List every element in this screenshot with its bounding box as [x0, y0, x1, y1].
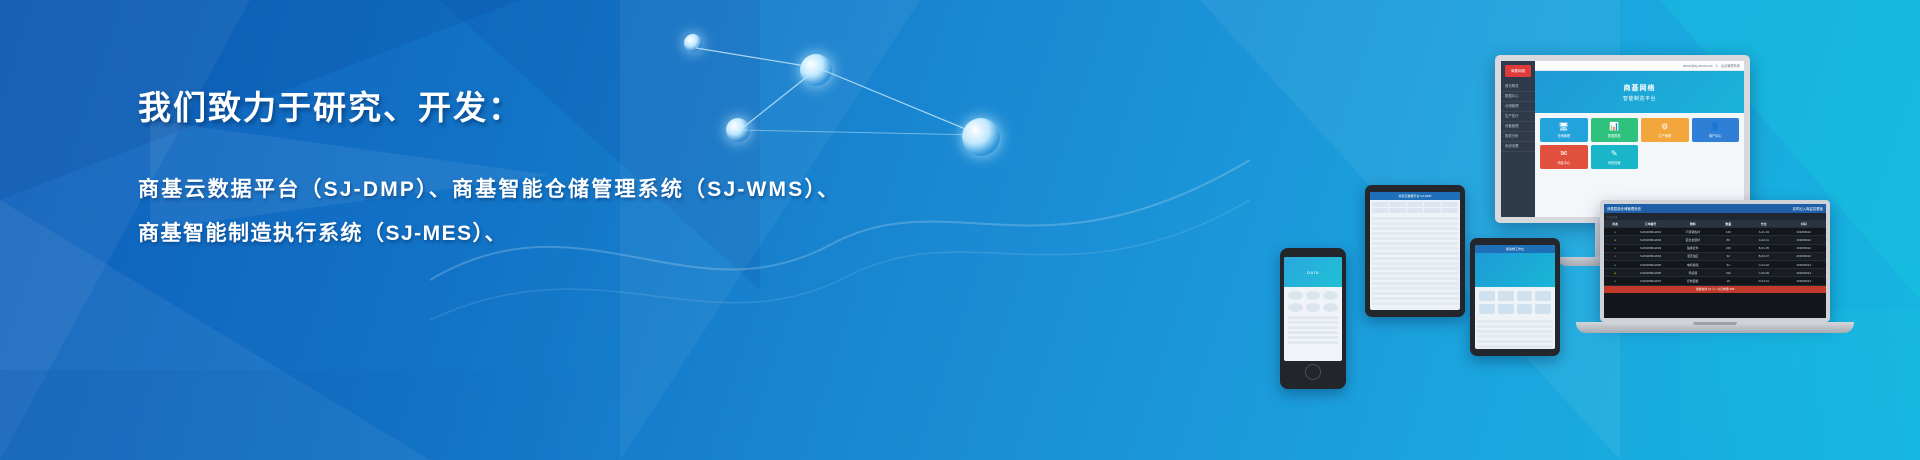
tablet-left-rows	[1370, 215, 1460, 309]
product-line-2: 商基智能制造执行系统（SJ-MES）、	[138, 212, 968, 256]
tile-warehouse[interactable]: 🖥 仓储管理	[1540, 118, 1588, 142]
app-icon[interactable]	[1288, 291, 1303, 300]
dashboard-sidebar[interactable]: 商基网络 首页概览 数据中心 仓储管理 生产执行 设备管理 报表分析 系统设置	[1501, 61, 1535, 217]
monitor-icon: 🖥	[1559, 123, 1569, 131]
row-material: 铝合金型材	[1675, 236, 1711, 243]
hero-subtitle: 智能制造平台	[1623, 95, 1656, 102]
tile-label-0: 仓储管理	[1557, 133, 1570, 138]
row-time: 2018/09/13	[1782, 269, 1826, 276]
row-order: SJ20180912006	[1626, 269, 1675, 276]
row-material: 控制面板	[1675, 277, 1711, 284]
tile-production[interactable]: ⚙ 生产管理	[1641, 118, 1689, 142]
col-qty: 数量	[1711, 220, 1747, 227]
app-icon[interactable]	[1288, 303, 1303, 312]
tablet-left-grid	[1370, 200, 1460, 215]
row-material: 传感器	[1675, 269, 1711, 276]
phone-list	[1284, 316, 1342, 344]
row-status: ●	[1604, 228, 1626, 235]
row-time: 2018/09/12	[1782, 245, 1826, 252]
dashboard-hero: 商基网络 智能制造平台	[1535, 71, 1744, 113]
table-row[interactable]: ● SJ20180912006 传感器 310 C-02-09 2018/09/…	[1604, 269, 1826, 277]
tile-label-5: 系统设置	[1608, 160, 1621, 165]
tile-settings[interactable]: ✎ 系统设置	[1591, 145, 1639, 169]
row-qty: 18	[1711, 277, 1747, 284]
phone-icons[interactable]	[1284, 287, 1342, 316]
row-material: 液压油缸	[1675, 253, 1711, 260]
dashboard-tiles: 🖥 仓储管理 📊 数据报表 ⚙ 生产管理	[1535, 113, 1744, 174]
user-icon: 👤	[1710, 123, 1720, 131]
row-status: ●	[1604, 261, 1626, 268]
col-order: 订单编号	[1626, 220, 1675, 227]
col-time: 时间	[1782, 220, 1826, 227]
app-icon[interactable]	[1517, 291, 1533, 301]
laptop-screen: 商基智能仓储管理系统 实时出入库监控看板 ▢ ▢ ▢ 状态 订单编号 物料 数量…	[1600, 200, 1830, 322]
admin-dashboard: 商基网络 首页概览 数据中心 仓储管理 生产执行 设备管理 报表分析 系统设置 …	[1501, 61, 1744, 217]
col-status: 状态	[1604, 220, 1626, 227]
tablet-left-body: 商基云数据平台 SJ-DMP	[1365, 185, 1465, 317]
tablet-right-body: 移动端工作台	[1470, 238, 1560, 356]
row-slot: B-01-05	[1746, 245, 1782, 252]
row-order: SJ20180912002	[1626, 236, 1675, 243]
laptop-base	[1576, 322, 1854, 333]
phone-screen: DATA	[1284, 257, 1342, 361]
wms-dashboard: 商基智能仓储管理系统 实时出入库监控看板 ▢ ▢ ▢ 状态 订单编号 物料 数量…	[1604, 204, 1826, 318]
row-qty: 64	[1711, 261, 1747, 268]
mail-icon: ✉	[1560, 150, 1567, 158]
dashboard-topbar: admin@sj-cloud.com ⚲ 后台管理系统	[1535, 61, 1744, 71]
row-time: 2018/09/12	[1782, 236, 1826, 243]
tablet-right-mockup: 移动端工作台	[1470, 238, 1560, 356]
hero-banner: 我们致力于研究、开发： 商基云数据平台（SJ-DMP）、商基智能仓储管理系统（S…	[0, 0, 1920, 460]
phone-mockup: DATA	[1280, 248, 1346, 389]
app-icon[interactable]	[1535, 304, 1551, 314]
wms-header: 商基智能仓储管理系统 实时出入库监控看板	[1604, 204, 1826, 213]
row-order: SJ20180912001	[1626, 228, 1675, 235]
table-row[interactable]: ● SJ20180912001 不锈钢板材 120 A-01-03 2018/0…	[1604, 228, 1826, 236]
table-row[interactable]: ● SJ20180912003 轴承套件 240 B-01-05 2018/09…	[1604, 245, 1826, 253]
topbar-user-label[interactable]: 后台管理系统	[1721, 63, 1740, 68]
row-slot: C-01-02	[1746, 261, 1782, 268]
hero-title: 商基网络	[1624, 83, 1656, 93]
row-qty: 240	[1711, 245, 1747, 252]
row-time: 2018/09/12	[1782, 228, 1826, 235]
row-order: SJ20180912007	[1626, 277, 1675, 284]
table-header-row: 状态 订单编号 物料 数量 仓位 时间	[1604, 220, 1826, 228]
app-icon[interactable]	[1479, 291, 1495, 301]
gear-icon: ⚙	[1661, 123, 1668, 131]
row-time: 2018/09/13	[1782, 277, 1826, 284]
wms-title: 商基智能仓储管理系统	[1607, 206, 1641, 211]
wms-status-bar: 当前在线 12 人 / 今日单量 486	[1604, 286, 1826, 293]
app-icon[interactable]	[1306, 291, 1321, 300]
table-row[interactable]: ● SJ20180912005 电机模组 64 C-01-02 2018/09/…	[1604, 261, 1826, 269]
row-status: ●	[1604, 236, 1626, 243]
app-icon[interactable]	[1498, 304, 1514, 314]
app-icon[interactable]	[1535, 291, 1551, 301]
tile-label-3: 用户中心	[1709, 133, 1722, 138]
col-slot: 仓位	[1746, 220, 1782, 227]
row-order: SJ20180912004	[1626, 253, 1675, 260]
dashboard-main: admin@sj-cloud.com ⚲ 后台管理系统 商基网络 智能制造平台 …	[1535, 61, 1744, 217]
sidebar-item-2[interactable]: 仓储管理	[1501, 102, 1535, 112]
row-status: ●	[1604, 245, 1626, 252]
phone-home-button[interactable]	[1305, 364, 1321, 380]
phone-hero: DATA	[1284, 257, 1342, 287]
row-qty: 120	[1711, 228, 1747, 235]
app-icon[interactable]	[1498, 291, 1514, 301]
row-slot: D-01-01	[1746, 277, 1782, 284]
laptop-notch	[1693, 322, 1737, 325]
app-icon[interactable]	[1323, 303, 1338, 312]
sidebar-item-6[interactable]: 系统设置	[1501, 142, 1535, 152]
tile-label-2: 生产管理	[1658, 133, 1671, 138]
page-title: 我们致力于研究、开发：	[138, 88, 968, 128]
tablet-right-screen: 移动端工作台	[1475, 245, 1555, 349]
row-material: 轴承套件	[1675, 245, 1711, 252]
pencil-icon: ✎	[1611, 150, 1618, 158]
banner-copy: 我们致力于研究、开发： 商基云数据平台（SJ-DMP）、商基智能仓储管理系统（S…	[138, 88, 968, 256]
col-material: 物料	[1675, 220, 1711, 227]
app-icon[interactable]	[1517, 304, 1533, 314]
table-row[interactable]: ● SJ20180912007 控制面板 18 D-01-01 2018/09/…	[1604, 277, 1826, 285]
tablet-right-rows	[1475, 318, 1555, 349]
tablet-left-mockup: 商基云数据平台 SJ-DMP	[1365, 185, 1465, 317]
sidebar-logo: 商基网络	[1505, 65, 1531, 77]
row-time: 2018/09/12	[1782, 253, 1826, 260]
product-line-1: 商基云数据平台（SJ-DMP）、商基智能仓储管理系统（SJ-WMS）、	[138, 168, 968, 212]
row-status: ●	[1604, 269, 1626, 276]
row-status: ●	[1604, 277, 1626, 284]
app-icon[interactable]	[1306, 303, 1321, 312]
network-node-1	[684, 34, 702, 52]
row-qty: 310	[1711, 269, 1747, 276]
tablet-right-icons[interactable]	[1475, 287, 1555, 318]
tablet-left-screen: 商基云数据平台 SJ-DMP	[1370, 192, 1460, 310]
sidebar-item-0[interactable]: 首页概览	[1501, 82, 1535, 92]
row-slot: B-03-07	[1746, 253, 1782, 260]
app-icon[interactable]	[1323, 291, 1338, 300]
table-row[interactable]: ● SJ20180912002 铝合金型材 86 A-02-11 2018/09…	[1604, 236, 1826, 244]
laptop-mockup: 商基智能仓储管理系统 实时出入库监控看板 ▢ ▢ ▢ 状态 订单编号 物料 数量…	[1600, 200, 1830, 333]
row-order: SJ20180912005	[1626, 261, 1675, 268]
row-material: 不锈钢板材	[1675, 228, 1711, 235]
row-slot: A-02-11	[1746, 236, 1782, 243]
app-icon[interactable]	[1479, 304, 1495, 314]
chart-icon: 📊	[1609, 123, 1619, 131]
tile-reports[interactable]: 📊 数据报表	[1591, 118, 1639, 142]
imac-screen: 商基网络 首页概览 数据中心 仓储管理 生产执行 设备管理 报表分析 系统设置 …	[1495, 55, 1750, 223]
tile-messages[interactable]: ✉ 消息中心	[1540, 145, 1588, 169]
network-node-2	[800, 54, 832, 86]
wms-subtitle: 实时出入库监控看板	[1792, 206, 1823, 211]
wms-toolbar[interactable]: ▢ ▢ ▢	[1604, 213, 1826, 220]
sidebar-item-1[interactable]: 数据中心	[1501, 92, 1535, 102]
row-order: SJ20180912003	[1626, 245, 1675, 252]
phone-body: DATA	[1280, 248, 1346, 389]
sidebar-item-3[interactable]: 生产执行	[1501, 112, 1535, 122]
search-icon[interactable]: ⚲	[1716, 64, 1718, 68]
bg-glow-bottom-left	[0, 370, 620, 460]
row-status: ●	[1604, 253, 1626, 260]
row-slot: A-01-03	[1746, 228, 1782, 235]
tile-user-center[interactable]: 👤 用户中心	[1692, 118, 1740, 142]
row-qty: 32	[1711, 253, 1747, 260]
row-material: 电机模组	[1675, 261, 1711, 268]
row-slot: C-02-09	[1746, 269, 1782, 276]
tablet-right-header: 移动端工作台	[1475, 245, 1555, 253]
row-qty: 86	[1711, 236, 1747, 243]
tablet-left-header: 商基云数据平台 SJ-DMP	[1370, 192, 1460, 200]
topbar-account: admin@sj-cloud.com	[1683, 64, 1713, 68]
tile-label-1: 数据报表	[1608, 133, 1621, 138]
table-row[interactable]: ● SJ20180912004 液压油缸 32 B-03-07 2018/09/…	[1604, 253, 1826, 261]
sidebar-item-4[interactable]: 设备管理	[1501, 122, 1535, 132]
device-mockups: 商基网络 首页概览 数据中心 仓储管理 生产执行 设备管理 报表分析 系统设置 …	[1280, 0, 1920, 460]
row-time: 2018/09/13	[1782, 261, 1826, 268]
tablet-right-hero	[1475, 253, 1555, 287]
tile-label-4: 消息中心	[1557, 160, 1570, 165]
sidebar-item-5[interactable]: 报表分析	[1501, 132, 1535, 142]
